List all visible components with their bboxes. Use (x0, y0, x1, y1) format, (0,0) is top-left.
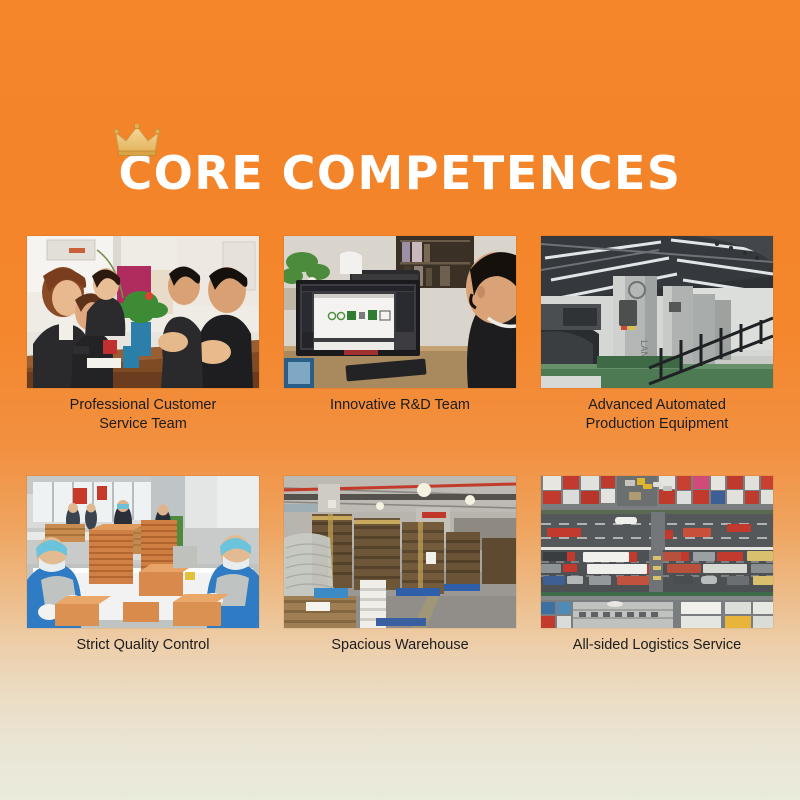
crown-icon (114, 124, 160, 158)
page-title: CORE COMPETENCES (118, 150, 681, 196)
caption-professional-customer-service-team: Professional Customer Service Team (27, 396, 259, 434)
photo-meeting-room-customer-service-team (27, 236, 259, 388)
card-spacious-warehouse[interactable]: Spacious Warehouse (284, 476, 516, 655)
caption-strict-quality-control: Strict Quality Control (27, 636, 259, 655)
header: CORE COMPETENCES (0, 150, 800, 196)
card-advanced-automated-production-equipment[interactable]: LAND (541, 236, 773, 434)
card-all-sided-logistics-service[interactable]: All-sided Logistics Service (541, 476, 773, 655)
competence-grid: Professional Customer Service Team (27, 236, 773, 655)
caption-spacious-warehouse: Spacious Warehouse (284, 636, 516, 655)
photo-workers-inspecting-boxes (27, 476, 259, 628)
photo-aerial-port-containers-trucks (541, 476, 773, 628)
photo-warehouse-stacked-pallets (284, 476, 516, 628)
caption-all-sided-logistics-service: All-sided Logistics Service (541, 636, 773, 655)
photo-designer-at-widescreen-monitor (284, 236, 516, 388)
card-professional-customer-service-team[interactable]: Professional Customer Service Team (27, 236, 259, 434)
title-wrap: CORE COMPETENCES (118, 150, 681, 196)
caption-innovative-rd-team: Innovative R&D Team (284, 396, 516, 415)
card-strict-quality-control[interactable]: Strict Quality Control (27, 476, 259, 655)
card-innovative-rd-team[interactable]: Innovative R&D Team (284, 236, 516, 434)
caption-advanced-automated-production-equipment: Advanced Automated Production Equipment (541, 396, 773, 434)
photo-industrial-printing-press-line: LAND (541, 236, 773, 388)
core-competences-banner: CORE COMPETENCES (0, 0, 800, 800)
